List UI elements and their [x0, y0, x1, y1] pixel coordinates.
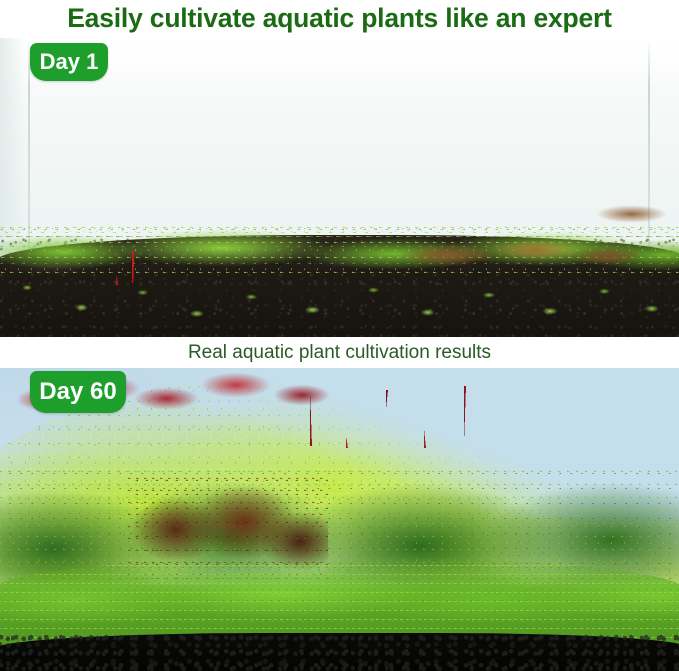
- day1-bronze-plant-patch-upper: [584, 201, 679, 227]
- page-title: Easily cultivate aquatic plants like an …: [0, 0, 679, 36]
- comparison-caption: Real aquatic plant cultivation results: [0, 337, 679, 368]
- product-image-panel: Easily cultivate aquatic plants like an …: [0, 0, 679, 671]
- day1-badge: Day 1: [30, 43, 108, 81]
- day60-badge: Day 60: [30, 371, 126, 413]
- day60-photo: Day 60: [0, 368, 679, 671]
- day60-gravel-foreground: [0, 633, 679, 671]
- day1-bronze-plant-patch: [394, 233, 638, 273]
- day1-red-plant: [112, 251, 146, 285]
- day60-red-stems: [300, 368, 530, 454]
- day1-photo: Day 1: [0, 38, 679, 337]
